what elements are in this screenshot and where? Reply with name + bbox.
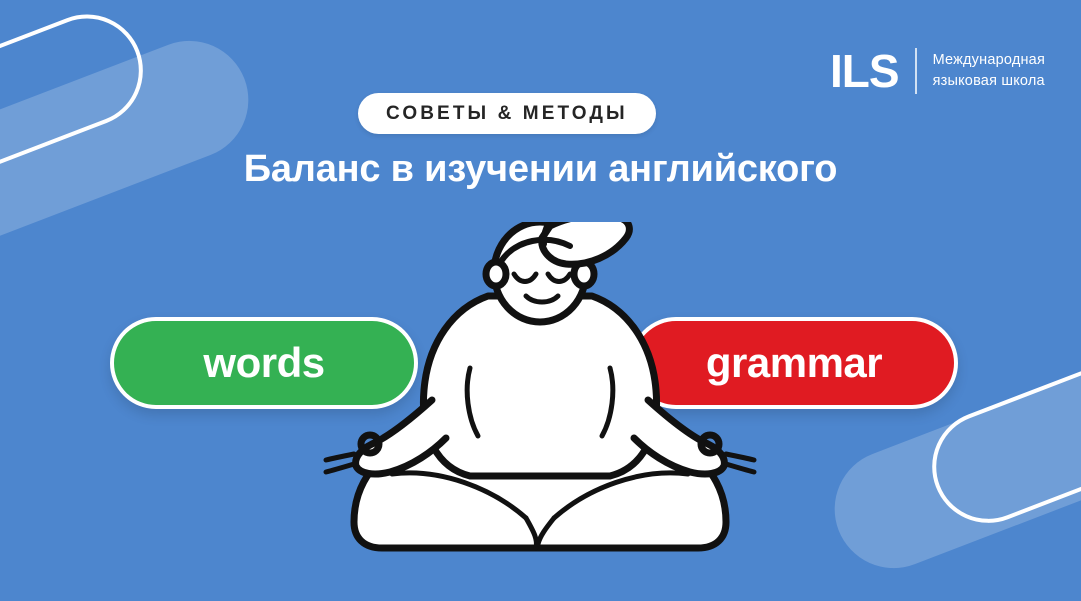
category-badge-label: СОВЕТЫ & МЕТОДЫ	[386, 103, 628, 125]
figure-left-fingers-2	[326, 464, 354, 472]
page-title: Баланс в изучении английского	[0, 148, 1081, 191]
brand-logo: ILS Международная языковая школа	[830, 48, 1045, 94]
poster-canvas: ILS Международная языковая школа СОВЕТЫ …	[0, 0, 1081, 601]
logo-divider	[915, 48, 917, 94]
figure-left-fingers-1	[326, 454, 354, 460]
decorative-pill-top-left-outline	[0, 0, 159, 242]
logo-tagline-line1: Международная	[933, 50, 1045, 71]
pill-words-label: words	[203, 339, 324, 387]
category-badge: СОВЕТЫ & МЕТОДЫ	[358, 93, 656, 134]
logo-wordmark: ILS	[830, 48, 899, 94]
figure-left-ear	[486, 262, 506, 286]
figure-right-fingers-2	[726, 464, 754, 472]
figure-right-fingers-1	[726, 454, 754, 460]
meditating-person-illustration	[320, 222, 760, 562]
logo-tagline-line2: языковая школа	[933, 71, 1045, 92]
logo-tagline: Международная языковая школа	[933, 50, 1045, 91]
